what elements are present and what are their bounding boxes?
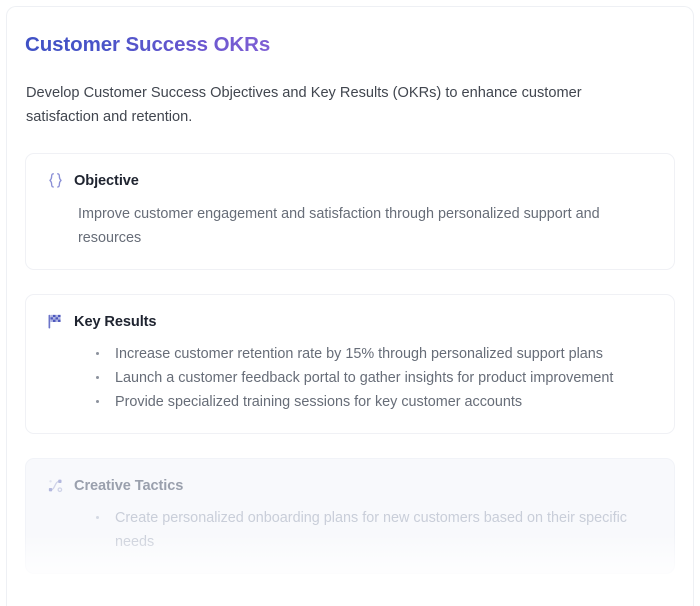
section-card-objective[interactable]: Objective Improve customer engagement an… bbox=[25, 153, 675, 270]
intro-paragraph: Develop Customer Success Objectives and … bbox=[25, 81, 611, 129]
page-title-row: Customer Success OKRs bbox=[25, 33, 675, 57]
section-header-objective: Objective bbox=[46, 171, 654, 190]
list-item: Increase customer retention rate by 15% … bbox=[96, 342, 646, 366]
key-results-list: Increase customer retention rate by 15% … bbox=[46, 342, 646, 414]
checkered-flag-icon bbox=[46, 312, 65, 331]
section-title-key-results: Key Results bbox=[74, 314, 156, 330]
section-title-objective: Objective bbox=[74, 173, 139, 189]
section-title-creative-tactics: Creative Tactics bbox=[74, 478, 183, 494]
creative-tactics-list: Create personalized onboarding plans for… bbox=[46, 506, 646, 554]
list-item: Create personalized onboarding plans for… bbox=[96, 506, 646, 554]
page-title: Customer Success OKRs bbox=[25, 33, 270, 57]
list-item: Launch a customer feedback portal to gat… bbox=[96, 366, 646, 390]
shuffle-nodes-icon bbox=[46, 476, 65, 495]
curly-braces-icon bbox=[46, 171, 65, 190]
okr-document-panel: Customer Success OKRs Develop Customer S… bbox=[6, 6, 694, 606]
section-card-key-results[interactable]: Key Results Increase customer retention … bbox=[25, 294, 675, 434]
section-body-objective: Improve customer engagement and satisfac… bbox=[46, 202, 606, 250]
panel-content: Customer Success OKRs Develop Customer S… bbox=[7, 7, 693, 574]
section-card-creative-tactics[interactable]: Creative Tactics Create personalized onb… bbox=[25, 458, 675, 574]
list-item: Provide specialized training sessions fo… bbox=[96, 390, 646, 414]
section-header-key-results: Key Results bbox=[46, 312, 654, 331]
section-header-creative-tactics: Creative Tactics bbox=[46, 476, 654, 495]
